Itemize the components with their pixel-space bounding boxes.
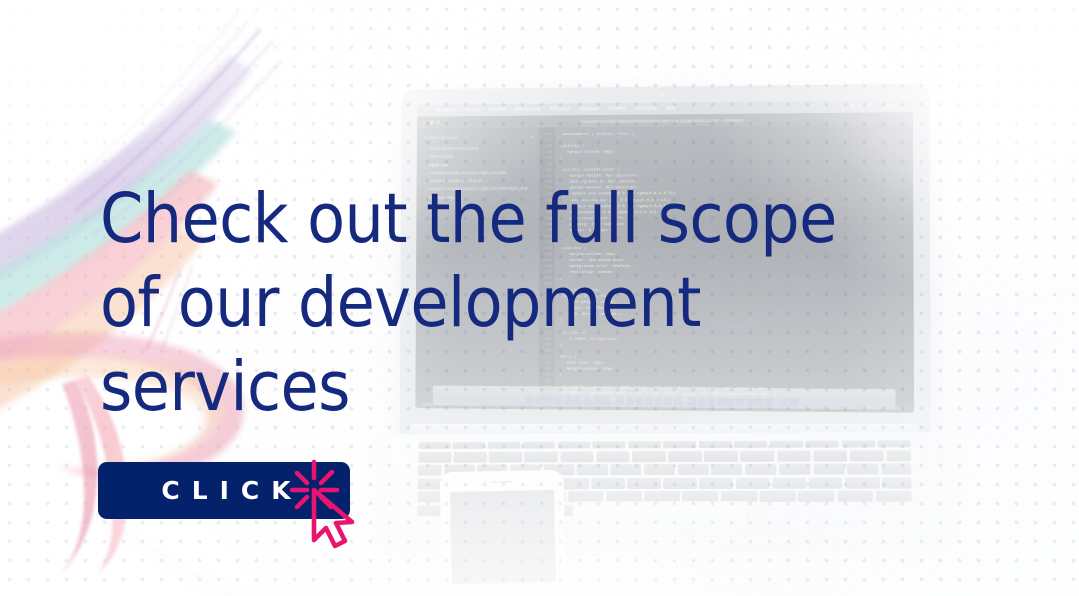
headline-line-3: services xyxy=(100,345,860,429)
promo-banner:  Brackets Fichier Modifier Rechercher A… xyxy=(0,0,1079,596)
cta-container: CLICK xyxy=(98,462,350,519)
headline-line-2: of our development xyxy=(100,261,860,345)
page-title: Check out the full scope of our developm… xyxy=(100,177,860,429)
headline-line-1: Check out the full scope xyxy=(100,177,860,261)
banner-content: Check out the full scope of our developm… xyxy=(0,0,1079,596)
click-button[interactable]: CLICK xyxy=(98,462,350,519)
click-button-label: CLICK xyxy=(145,478,302,503)
